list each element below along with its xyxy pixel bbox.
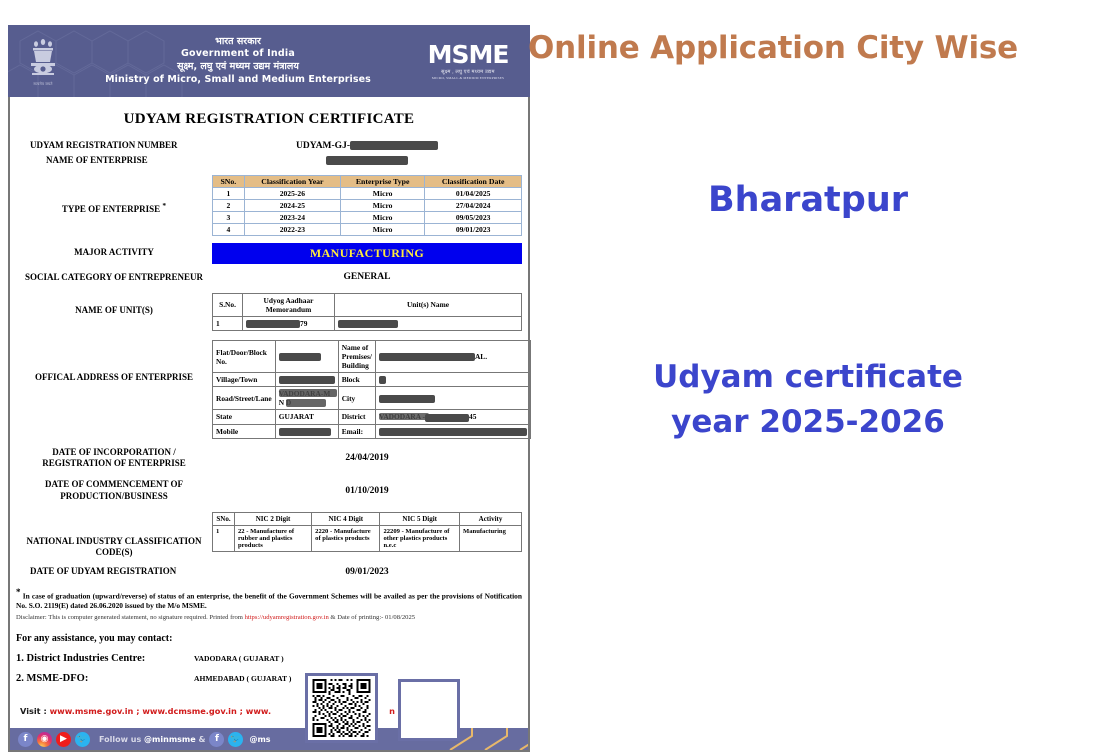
table-row: 3 2023-24 Micro 09/05/2023 — [213, 211, 522, 223]
follow-text: Follow us @minmsme & — [99, 735, 205, 744]
label-block: Block — [338, 373, 375, 387]
uam-suffix: 79 — [300, 319, 307, 328]
cell-sno: 4 — [213, 223, 245, 235]
twitter-icon[interactable]: 🐦 — [228, 732, 243, 747]
table-header-row: SNo. NIC 2 Digit NIC 4 Digit NIC 5 Digit… — [213, 512, 522, 525]
page-root: सत्यमेव जयते भारत सरकार Government of In… — [0, 0, 1116, 753]
value-premises: AL. — [375, 341, 530, 373]
cell-type: Micro — [341, 223, 425, 235]
certificate-header: सत्यमेव जयते भारत सरकार Government of In… — [8, 25, 530, 97]
value-village — [275, 373, 338, 387]
label-flat: Flat/Door/Block No. — [213, 341, 276, 373]
row-nic-codes: NATIONAL INDUSTRY CLASSIFICATION CODE(S)… — [16, 512, 522, 559]
header-line-en-2: Ministry of Micro, Small and Medium Ente… — [60, 74, 416, 87]
col-nic5: NIC 5 Digit — [380, 512, 460, 525]
col-nic2: NIC 2 Digit — [235, 512, 312, 525]
cell-date: 27/04/2024 — [425, 199, 522, 211]
label-commencement-date: DATE OF COMMENCEMENT OF PRODUCTION/BUSIN… — [16, 479, 212, 502]
col-nic4: NIC 4 Digit — [312, 512, 380, 525]
cell-nic5: 22209 - Manufacture of other plastics pr… — [380, 525, 460, 551]
label-nic-codes: NATIONAL INDUSTRY CLASSIFICATION CODE(S) — [16, 536, 212, 559]
certificate-body: UDYAM REGISTRATION CERTIFICATE UDYAM REG… — [8, 97, 530, 752]
follow-handle-1: @minmsme — [144, 735, 196, 744]
value-state: GUJARAT — [275, 410, 338, 424]
ashoka-emblem-icon — [25, 35, 61, 81]
cell-sno: 1 — [213, 525, 235, 551]
row-social-category: SOCIAL CATEGORY OF ENTREPRENEUR GENERAL — [16, 272, 522, 283]
row-name-of-units: NAME OF UNIT(S) S.No. Udyog Aadhaar Memo… — [16, 293, 522, 331]
table-row: Village/Town Block — [213, 373, 531, 387]
disclaimer-post: & Date of printing:- 01/08/2025 — [329, 614, 415, 621]
col-classification-year: Classification Year — [244, 175, 340, 187]
msme-logo: MSME सूक्ष्म , लघु एवं मध्यम उद्यम MICRO… — [416, 42, 520, 80]
assistance-heading: For any assistance, you may contact: — [16, 633, 522, 644]
cell-date: 09/01/2023 — [425, 223, 522, 235]
promo-heading: Online Application City Wise — [528, 30, 1116, 66]
col-unit-name: Unit(s) Name — [335, 293, 522, 316]
facebook-icon[interactable]: f — [18, 732, 33, 747]
label-major-activity: MAJOR ACTIVITY — [16, 247, 212, 258]
contact-label: 1. District Industries Centre: — [16, 653, 194, 664]
row-enterprise-name: NAME OF ENTERPRISE — [16, 155, 522, 166]
cell-nic2: 22 - Manufacture of rubber and plastics … — [235, 525, 312, 551]
table-row: 1 22 - Manufacture of rubber and plastic… — [213, 525, 522, 551]
cell-sno: 3 — [213, 211, 245, 223]
follow-prefix: Follow us — [99, 735, 144, 744]
qr-code-icon — [311, 679, 372, 737]
disclaimer-url[interactable]: https://udyamregistration.gov.in — [245, 614, 329, 621]
table-row: Road/Street/Lane VADODARA-M N D — [213, 387, 531, 410]
disclaimer: Disclaimer: This is computer generated s… — [16, 614, 522, 623]
unit-table: S.No. Udyog Aadhaar Memorandum Unit(s) N… — [212, 293, 522, 331]
udyam-certificate: सत्यमेव जयते भारत सरकार Government of In… — [8, 25, 530, 752]
label-premises: Name of Premises/ Building — [338, 341, 375, 373]
col-sno: SNo. — [213, 512, 235, 525]
table-row: 2 2024-25 Micro 27/04/2024 — [213, 199, 522, 211]
facebook-icon[interactable]: f — [209, 732, 224, 747]
promo-subheading: Udyam certificate year 2025-2026 — [528, 355, 1088, 445]
label-social-category: SOCIAL CATEGORY OF ENTREPRENEUR — [16, 272, 212, 283]
row-udyam-registration-date: DATE OF UDYAM REGISTRATION 09/01/2023 — [16, 566, 522, 577]
label-udyam-registration-date: DATE OF UDYAM REGISTRATION — [16, 566, 212, 577]
col-enterprise-type: Enterprise Type — [341, 175, 425, 187]
label-type-of-enterprise: TYPE OF ENTERPRISE * — [16, 201, 212, 215]
label-state: State — [213, 410, 276, 424]
label-email: Email: — [338, 424, 375, 438]
classification-table-wrap: SNo. Classification Year Enterprise Type… — [212, 175, 522, 236]
visit-label: Visit : — [20, 706, 50, 716]
table-row: 4 2022-23 Micro 09/01/2023 — [213, 223, 522, 235]
promo-subheading-line-2: year 2025-2026 — [528, 400, 1088, 445]
cell-year: 2023-24 — [244, 211, 340, 223]
msme-logo-english: MICRO, SMALL & MEDIUM ENTERPRISES — [416, 76, 520, 80]
value-incorporation-date: 24/04/2019 — [212, 453, 522, 463]
cell-date: 09/05/2023 — [425, 211, 522, 223]
msme-logo-mark: MSME — [416, 42, 520, 67]
value-commencement-date: 01/10/2019 — [212, 486, 522, 496]
cell-type: Micro — [341, 211, 425, 223]
address-table: Flat/Door/Block No. Name of Premises/ Bu… — [212, 340, 531, 439]
cell-year: 2025-26 — [244, 187, 340, 199]
emblem-caption: सत्यमेव जयते — [33, 82, 52, 87]
table-row: Mobile Email: — [213, 424, 531, 438]
redaction-bar — [350, 141, 438, 150]
row-type-of-enterprise: TYPE OF ENTERPRISE * SNo. Classification… — [16, 175, 522, 236]
cell-uam: 79 — [243, 316, 335, 330]
cell-year: 2022-23 — [244, 223, 340, 235]
row-commencement-date: DATE OF COMMENCEMENT OF PRODUCTION/BUSIN… — [16, 479, 522, 502]
cell-nic4: 2220 - Manufacture of plastics products — [312, 525, 380, 551]
label-mobile: Mobile — [213, 424, 276, 438]
visit-urls[interactable]: www.msme.gov.in ; www.dcmsme.gov.in ; ww… — [50, 706, 272, 716]
value-enterprise-name — [212, 156, 522, 166]
label-district: District — [338, 410, 375, 424]
premises-suffix: AL. — [475, 352, 487, 361]
instagram-icon[interactable]: ◉ — [37, 732, 52, 747]
cell-sno: 2 — [213, 199, 245, 211]
cell-sno: 1 — [213, 316, 243, 330]
disclaimer-pre: Disclaimer: This is computer generated s… — [16, 614, 245, 621]
cell-type: Micro — [341, 199, 425, 211]
contact-district-industries-centre: 1. District Industries Centre: VADODARA … — [16, 653, 522, 664]
col-activity: Activity — [460, 512, 522, 525]
major-activity-banner: MANUFACTURING — [212, 243, 522, 264]
address-table-wrap: Flat/Door/Block No. Name of Premises/ Bu… — [212, 340, 531, 439]
table-row: 1 79 — [213, 316, 522, 330]
certificate-title: UDYAM REGISTRATION CERTIFICATE — [16, 111, 522, 128]
table-header-row: SNo. Classification Year Enterprise Type… — [213, 175, 522, 187]
label-city: City — [338, 387, 375, 410]
value-block — [375, 373, 530, 387]
label-registration-number: UDYAM REGISTRATION NUMBER — [16, 140, 212, 151]
nic-table: SNo. NIC 2 Digit NIC 4 Digit NIC 5 Digit… — [212, 512, 522, 552]
value-road: VADODARA-M N D — [275, 387, 338, 410]
label-village: Village/Town — [213, 373, 276, 387]
registration-number-text: UDYAM-GJ- — [296, 141, 350, 151]
col-sno: SNo. — [213, 175, 245, 187]
label-enterprise-name: NAME OF ENTERPRISE — [16, 155, 212, 166]
value-social-category: GENERAL — [212, 272, 522, 282]
cell-year: 2024-25 — [244, 199, 340, 211]
cell-type: Micro — [341, 187, 425, 199]
label-road: Road/Street/Lane — [213, 387, 276, 410]
header-titles: भारत सरकार Government of India सूक्ष्म, … — [60, 36, 416, 86]
table-header-row: S.No. Udyog Aadhaar Memorandum Unit(s) N… — [213, 293, 522, 316]
value-udyam-registration-date: 09/01/2023 — [212, 567, 522, 577]
district-suffix: 45 — [469, 412, 476, 421]
table-row: Flat/Door/Block No. Name of Premises/ Bu… — [213, 341, 531, 373]
cell-sno: 1 — [213, 187, 245, 199]
label-official-address: OFFICAL ADDRESS OF ENTERPRISE — [16, 372, 212, 383]
value-city — [375, 387, 530, 410]
row-registration-number: UDYAM REGISTRATION NUMBER UDYAM-GJ- — [16, 140, 522, 151]
label-name-of-units: NAME OF UNIT(S) — [16, 305, 212, 316]
unit-table-wrap: S.No. Udyog Aadhaar Memorandum Unit(s) N… — [212, 293, 522, 331]
qr-code-overlay — [305, 673, 378, 743]
twitter-icon[interactable]: 🐦 — [75, 732, 90, 747]
graduation-note-text: In case of graduation (upward/reverse) o… — [16, 591, 522, 610]
row-official-address: OFFICAL ADDRESS OF ENTERPRISE Flat/Door/… — [16, 340, 522, 439]
value-flat — [275, 341, 338, 373]
value-email — [375, 424, 530, 438]
cell-unit-name — [335, 316, 522, 330]
cell-date: 01/04/2025 — [425, 187, 522, 199]
contact-label: 2. MSME-DFO: — [16, 673, 194, 684]
classification-table: SNo. Classification Year Enterprise Type… — [212, 175, 522, 236]
value-registration-number: UDYAM-GJ- — [212, 141, 522, 151]
col-uam: Udyog Aadhaar Memorandum — [243, 293, 335, 316]
header-line-hi-1: भारत सरकार — [60, 36, 416, 49]
graduation-note: * In case of graduation (upward/reverse)… — [16, 586, 522, 611]
promo-subheading-line-1: Udyam certificate — [528, 355, 1088, 400]
follow-amp: & — [196, 735, 206, 744]
value-mobile — [275, 424, 338, 438]
contact-value: VADODARA ( GUJARAT ) — [194, 654, 284, 663]
value-district: VADODARA -45 — [375, 410, 530, 424]
follow-handle-2: @ms — [249, 735, 270, 744]
col-sno: S.No. — [213, 293, 243, 316]
msme-logo-hindi: सूक्ष्म , लघु एवं मध्यम उद्यम — [416, 69, 520, 75]
col-classification-date: Classification Date — [425, 175, 522, 187]
header-line-hi-2: सूक्ष्म, लघु एवं मध्यम उद्यम मंत्रालय — [60, 61, 416, 74]
type-label-text: TYPE OF ENTERPRISE — [62, 204, 160, 214]
cell-activity: Manufacturing — [460, 525, 522, 551]
row-incorporation-date: DATE OF INCORPORATION / REGISTRATION OF … — [16, 447, 522, 470]
table-row: State GUJARAT District VADODARA -45 — [213, 410, 531, 424]
header-line-en-1: Government of India — [60, 48, 416, 61]
table-row: 1 2025-26 Micro 01/04/2025 — [213, 187, 522, 199]
row-major-activity: MAJOR ACTIVITY MANUFACTURING — [16, 243, 522, 264]
city-name: Bharatpur — [528, 180, 1088, 220]
label-incorporation-date: DATE OF INCORPORATION / REGISTRATION OF … — [16, 447, 212, 470]
youtube-icon[interactable]: ▶ — [56, 732, 71, 747]
redaction-bar — [326, 156, 408, 165]
contact-value: AHMEDABAD ( GUJARAT ) — [194, 674, 291, 683]
visit-url-tail[interactable]: n — [389, 706, 395, 716]
blank-overlay-box — [398, 679, 460, 741]
nic-table-wrap: SNo. NIC 2 Digit NIC 4 Digit NIC 5 Digit… — [212, 512, 522, 552]
